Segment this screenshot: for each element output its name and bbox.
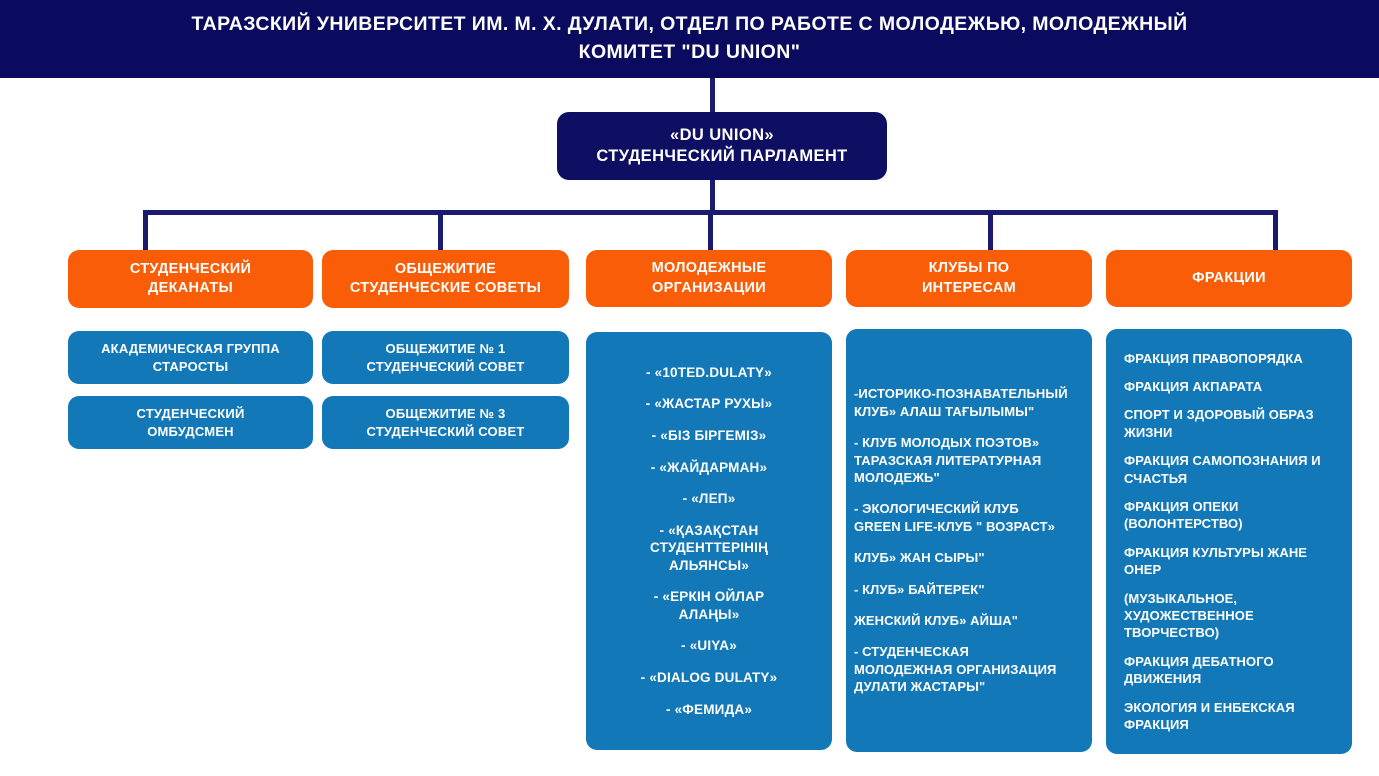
root-node-du-union[interactable]: «DU UNION» СТУДЕНЧЕСКИЙ ПАРЛАМЕНТ — [557, 112, 887, 180]
category-header-youth-organizations[interactable]: МОЛОДЕЖНЫЕ ОРГАНИЗАЦИИ — [586, 250, 832, 307]
connector-drop-2 — [438, 210, 443, 252]
list-item[interactable]: ФРАКЦИЯ ОПЕКИ (ВОЛОНТЕРСТВО) — [1106, 492, 1352, 538]
category-header-factions[interactable]: ФРАКЦИИ — [1106, 250, 1352, 307]
category-header-student-deanery[interactable]: СТУДЕНЧЕСКИЙ ДЕКАНАТЫ — [68, 250, 313, 308]
list-item[interactable]: - СТУДЕНЧЕСКАЯ МОЛОДЕЖНАЯ ОРГАНИЗАЦИЯ ДУ… — [846, 636, 1092, 702]
list-item[interactable]: ЭКОЛОГИЯ И ЕНБЕКСКАЯ ФРАКЦИЯ — [1106, 693, 1352, 739]
list-item[interactable]: - «ЛЕП» — [586, 483, 832, 515]
item-box-academic-group-elders[interactable]: АКАДЕМИЧЕСКАЯ ГРУППА СТАРОСТЫ — [68, 331, 313, 384]
category-header-interest-clubs[interactable]: КЛУБЫ ПО ИНТЕРЕСАМ — [846, 250, 1092, 307]
list-item[interactable]: - «ФЕМИДА» — [586, 694, 832, 726]
list-item[interactable]: - «ЖАСТАР РУХЫ» — [586, 388, 832, 420]
connector-drop-1 — [143, 210, 148, 252]
list-item[interactable]: ФРАКЦИЯ ДЕБАТНОГО ДВИЖЕНИЯ — [1106, 647, 1352, 693]
connector-drop-5 — [1273, 210, 1278, 252]
category-header-dormitory-councils[interactable]: ОБЩЕЖИТИЕ СТУДЕНЧЕСКИЕ СОВЕТЫ — [322, 250, 569, 308]
connector-drop-4 — [988, 210, 993, 252]
column-factions: ФРАКЦИИ ФРАКЦИЯ ПРАВОПОРЯДКА ФРАКЦИЯ АКП… — [1106, 250, 1352, 754]
column-interest-clubs: КЛУБЫ ПО ИНТЕРЕСАМ -ИСТОРИКО-ПОЗНАВАТЕЛЬ… — [846, 250, 1092, 752]
list-item[interactable]: ЖЕНСКИЙ КЛУБ» АЙША" — [846, 605, 1092, 636]
list-item[interactable]: -ИСТОРИКО-ПОЗНАВАТЕЛЬНЫЙ КЛУБ» АЛАШ ТАҒЫ… — [846, 378, 1092, 427]
list-item[interactable]: - «ЕРКІН ОЙЛАР АЛАҢЫ» — [586, 581, 832, 630]
list-item[interactable]: - «ЖАЙДАРМАН» — [586, 452, 832, 484]
panel-youth-organizations[interactable]: - «10TED.DULATY» - «ЖАСТАР РУХЫ» - «БІЗ … — [586, 332, 832, 750]
column-dormitory-councils: ОБЩЕЖИТИЕ СТУДЕНЧЕСКИЕ СОВЕТЫ ОБЩЕЖИТИЕ … — [322, 250, 569, 449]
item-box-dormitory-1-council[interactable]: ОБЩЕЖИТИЕ № 1 СТУДЕНЧЕСКИЙ СОВЕТ — [322, 331, 569, 384]
column-youth-organizations: МОЛОДЕЖНЫЕ ОРГАНИЗАЦИИ - «10TED.DULATY» … — [586, 250, 832, 750]
column-student-deanery: СТУДЕНЧЕСКИЙ ДЕКАНАТЫ АКАДЕМИЧЕСКАЯ ГРУП… — [68, 250, 313, 449]
list-item[interactable]: - КЛУБ МОЛОДЫХ ПОЭТОВ» ТАРАЗСКАЯ ЛИТЕРАТ… — [846, 427, 1092, 493]
org-chart: ТАРАЗСКИЙ УНИВЕРСИТЕТ ИМ. М. Х. ДУЛАТИ, … — [0, 0, 1379, 776]
list-item[interactable]: ФРАКЦИЯ КУЛЬТУРЫ ЖАНЕ ОНЕР — [1106, 538, 1352, 584]
panel-factions[interactable]: ФРАКЦИЯ ПРАВОПОРЯДКА ФРАКЦИЯ АКПАРАТА СП… — [1106, 329, 1352, 754]
list-item[interactable]: - «БІЗ БІРГЕМІЗ» — [586, 420, 832, 452]
list-item[interactable]: ФРАКЦИЯ САМОПОЗНАНИЯ И СЧАСТЬЯ — [1106, 447, 1352, 493]
item-box-student-ombudsman[interactable]: СТУДЕНЧЕСКИЙ ОМБУДСМЕН — [68, 396, 313, 449]
page-title-banner: ТАРАЗСКИЙ УНИВЕРСИТЕТ ИМ. М. Х. ДУЛАТИ, … — [0, 0, 1379, 78]
page-title: ТАРАЗСКИЙ УНИВЕРСИТЕТ ИМ. М. Х. ДУЛАТИ, … — [190, 11, 1190, 66]
connector-drop-3 — [708, 210, 713, 252]
list-item[interactable]: - «UIYA» — [586, 630, 832, 662]
list-item[interactable]: - «ҚАЗАҚСТАН СТУДЕНТТЕРІНІҢ АЛЬЯНСЫ» — [586, 515, 832, 582]
list-item[interactable]: - ЭКОЛОГИЧЕСКИЙ КЛУБ GREEN LIFE-КЛУБ " В… — [846, 493, 1092, 542]
list-item[interactable]: КЛУБ» ЖАН СЫРЫ" — [846, 542, 1092, 573]
list-item[interactable]: ФРАКЦИЯ АКПАРАТА — [1106, 372, 1352, 400]
list-item[interactable]: (МУЗЫКАЛЬНОЕ, ХУДОЖЕСТВЕННОЕ ТВОРЧЕСТВО) — [1106, 584, 1352, 647]
list-item[interactable]: - «DIALOG DULATY» — [586, 662, 832, 694]
item-box-dormitory-3-council[interactable]: ОБЩЕЖИТИЕ № 3 СТУДЕНЧЕСКИЙ СОВЕТ — [322, 396, 569, 449]
panel-interest-clubs[interactable]: -ИСТОРИКО-ПОЗНАВАТЕЛЬНЫЙ КЛУБ» АЛАШ ТАҒЫ… — [846, 329, 1092, 752]
list-item[interactable]: - КЛУБ» БАЙТЕРЕК" — [846, 574, 1092, 605]
list-item[interactable]: СПОРТ И ЗДОРОВЫЙ ОБРАЗ ЖИЗНИ — [1106, 401, 1352, 447]
connector-banner-to-root — [710, 78, 715, 114]
list-item[interactable]: ФРАКЦИЯ ПРАВОПОРЯДКА — [1106, 344, 1352, 372]
root-node-line1: «DU UNION» — [670, 125, 774, 146]
connector-root-to-bus — [710, 180, 715, 212]
root-node-line2: СТУДЕНЧЕСКИЙ ПАРЛАМЕНТ — [596, 146, 847, 167]
list-item[interactable]: - «10TED.DULATY» — [586, 357, 832, 389]
